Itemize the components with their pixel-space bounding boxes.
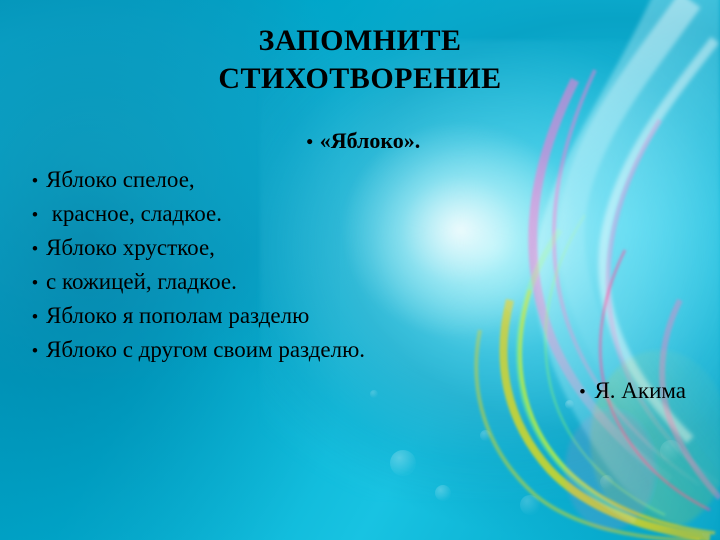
- list-item: • Яблоко я пополам разделю: [0, 304, 720, 327]
- page-title-line-2: СТИХОТВОРЕНИЕ: [0, 60, 720, 98]
- poem-line-text: с кожицей, гладкое.: [46, 270, 237, 293]
- poem-title-line: • «Яблоко».: [0, 130, 720, 152]
- author-text: Я. Акима: [594, 379, 686, 402]
- poem-title-text: «Яблоко».: [320, 130, 421, 152]
- list-item: • Яблоко с другом своим разделю.: [0, 338, 720, 361]
- poem-body: • «Яблоко». • Яблоко спелое, • красное, …: [0, 130, 720, 413]
- bullet-icon: •: [24, 308, 46, 327]
- bullet-icon: •: [24, 240, 46, 259]
- bullet-icon: •: [570, 383, 594, 402]
- poem-line-text: Яблоко я пополам разделю: [46, 304, 309, 327]
- bullet-icon: •: [300, 133, 320, 152]
- list-item: • красное, сладкое.: [0, 202, 720, 225]
- poem-line-text: Яблоко спелое,: [46, 168, 195, 191]
- page-title-line-1: ЗАПОМНИТЕ: [0, 22, 720, 60]
- poem-line-text: Яблоко хрусткое,: [46, 236, 215, 259]
- author-line: • Я. Акима: [0, 379, 720, 402]
- list-item: • Яблоко спелое,: [0, 168, 720, 191]
- list-item: • Яблоко хрусткое,: [0, 236, 720, 259]
- slide: ЗАПОМНИТЕ СТИХОТВОРЕНИЕ • «Яблоко». • Яб…: [0, 0, 720, 540]
- slide-content: ЗАПОМНИТЕ СТИХОТВОРЕНИЕ • «Яблоко». • Яб…: [0, 0, 720, 540]
- bullet-icon: •: [24, 206, 46, 225]
- page-title: ЗАПОМНИТЕ СТИХОТВОРЕНИЕ: [0, 22, 720, 97]
- bullet-icon: •: [24, 274, 46, 293]
- bullet-icon: •: [24, 342, 46, 361]
- bullet-icon: •: [24, 172, 46, 191]
- poem-line-text: красное, сладкое.: [46, 202, 222, 225]
- list-item: • с кожицей, гладкое.: [0, 270, 720, 293]
- poem-line-text: Яблоко с другом своим разделю.: [46, 338, 365, 361]
